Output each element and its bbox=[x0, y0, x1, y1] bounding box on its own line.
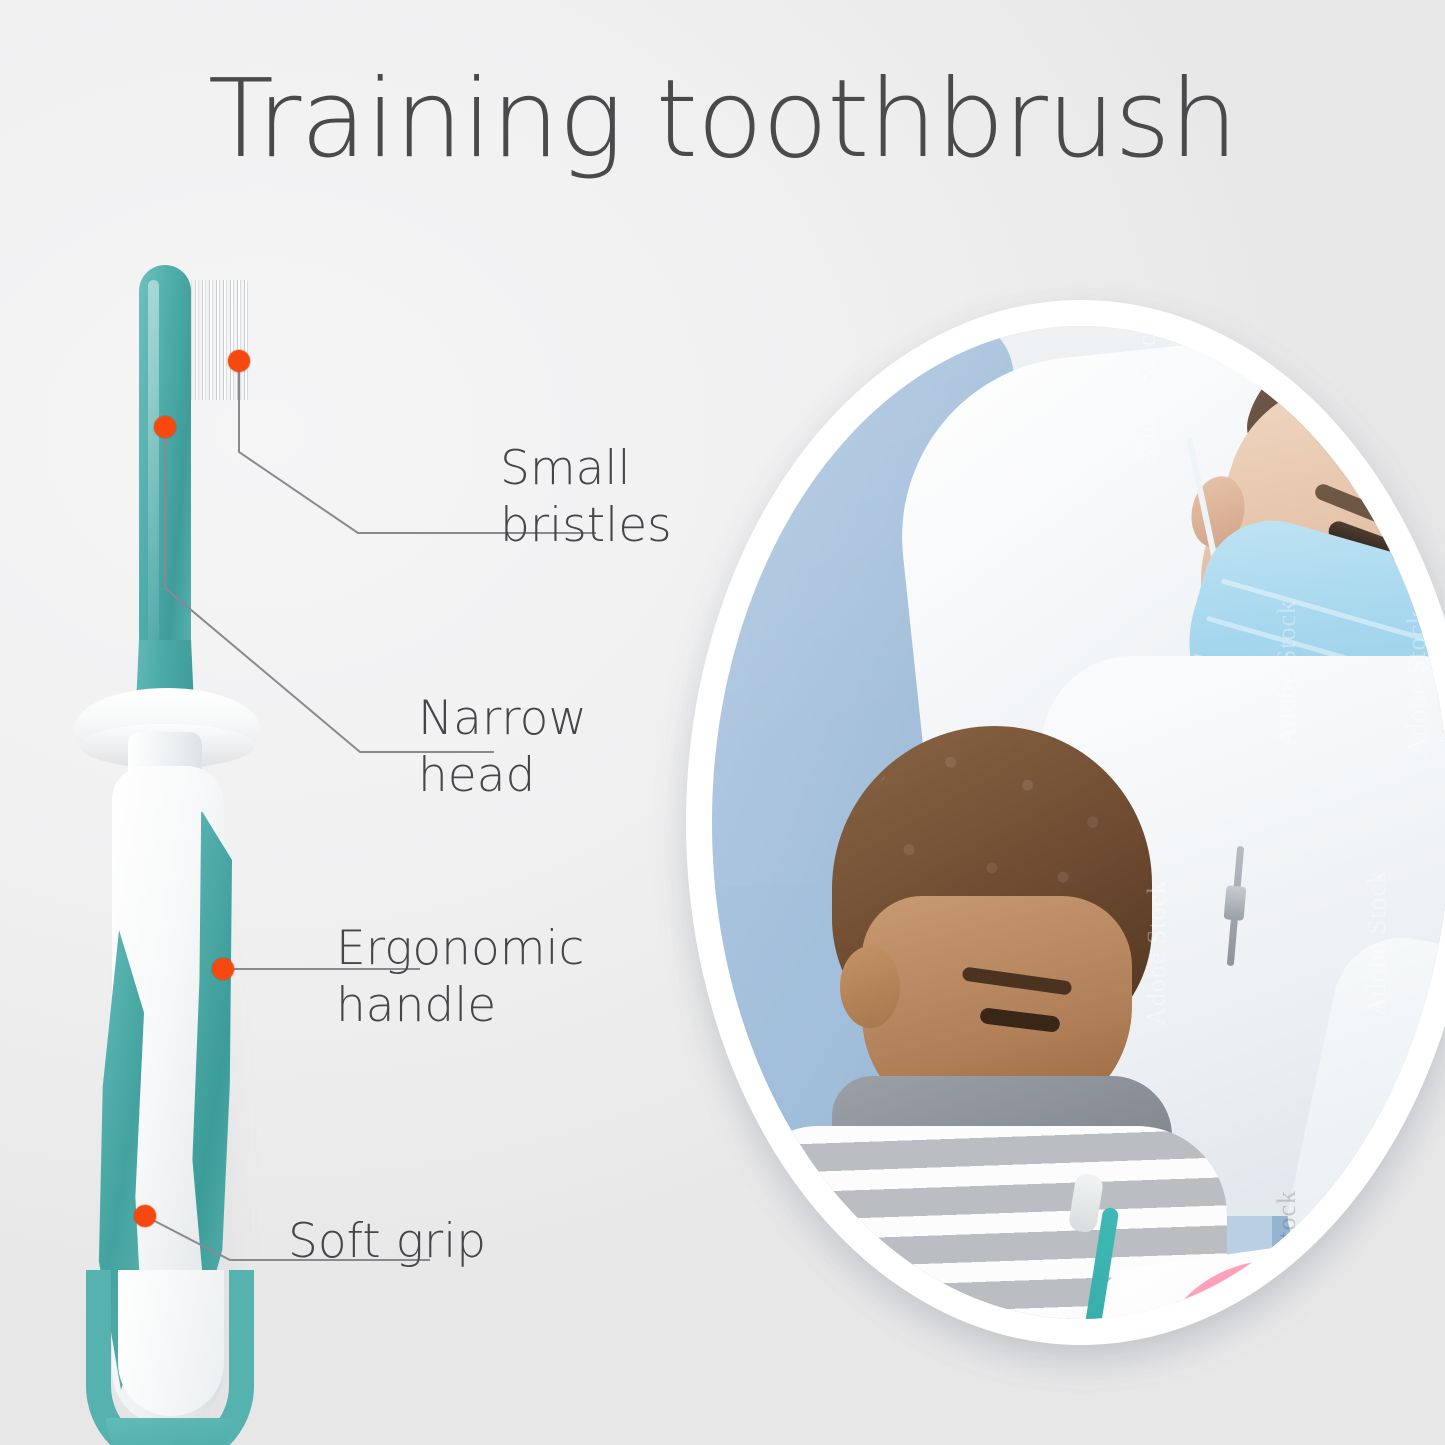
handle-loop-tip bbox=[106, 1418, 232, 1445]
marker-dot-narrow-head[interactable] bbox=[154, 416, 176, 438]
callout-label-small-bristles: Small bristles bbox=[500, 440, 672, 555]
marker-dot-soft-grip[interactable] bbox=[134, 1205, 156, 1227]
child-ear bbox=[840, 946, 900, 1028]
marker-dot-small-bristles[interactable] bbox=[228, 350, 250, 372]
coat-zipper-pull bbox=[1224, 885, 1247, 921]
callout-label-soft-grip: Soft grip bbox=[288, 1213, 486, 1270]
page-title: Training toothbrush bbox=[0, 62, 1445, 179]
stock-watermark-text: Adobe Stock bbox=[1272, 1190, 1302, 1319]
stock-watermark-text: Adobe Stock bbox=[1362, 870, 1392, 1016]
brush-head-neck bbox=[139, 265, 191, 665]
neck-highlight bbox=[148, 280, 159, 650]
product-infographic: Training toothbrush bbox=[0, 0, 1445, 1445]
callout-label-narrow-head: Narrow head bbox=[418, 690, 587, 805]
handle-loop-inner bbox=[118, 1270, 224, 1416]
callout-label-ergonomic-handle: Ergonomic handle bbox=[336, 920, 584, 1035]
stock-watermark-text: Adobe Stock bbox=[1272, 600, 1302, 746]
stock-watermark-text: Adobe Stock bbox=[1132, 326, 1162, 466]
stock-watermark-text: Adobe Stock bbox=[1142, 880, 1172, 1026]
lifestyle-photo: 35238513 Adobe Stock Adobe Stock Adobe S… bbox=[686, 300, 1445, 1360]
stock-watermark-number: 35238513 bbox=[824, 1290, 855, 1319]
marker-dot-ergonomic-handle[interactable] bbox=[212, 958, 234, 980]
stock-watermark-text: Adobe Stock bbox=[1402, 610, 1432, 756]
photo-content: 35238513 Adobe Stock Adobe Stock Adobe S… bbox=[712, 326, 1445, 1319]
